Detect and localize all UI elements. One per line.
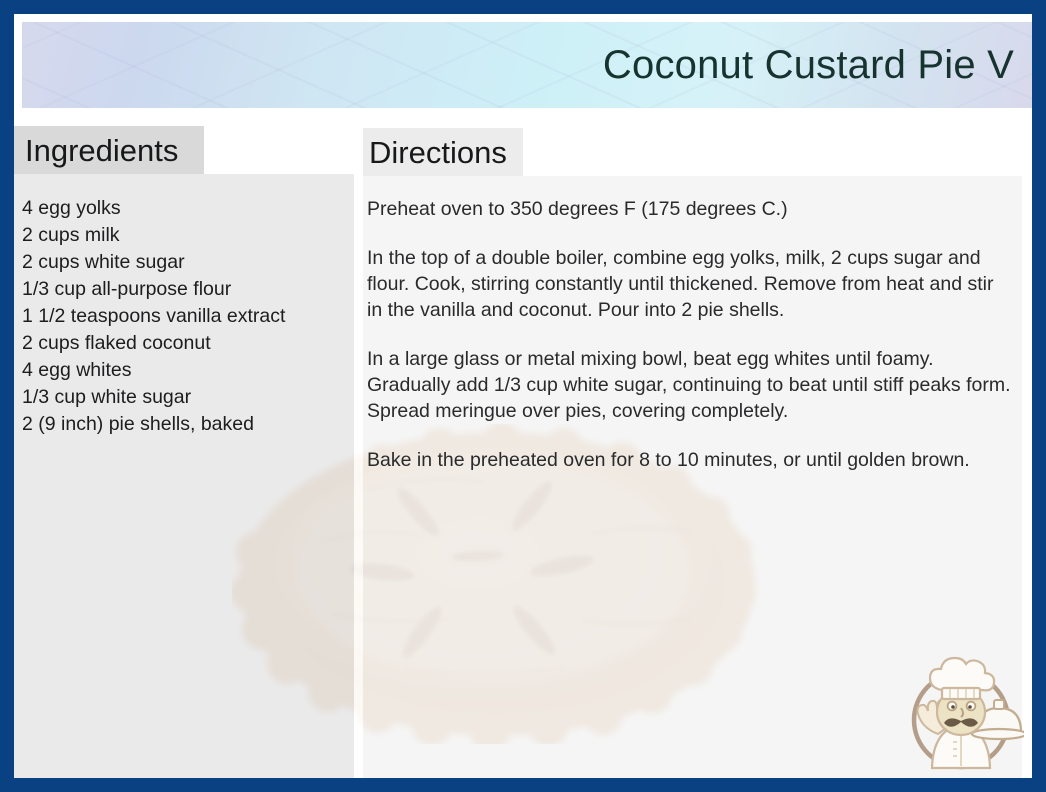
tab-ingredients[interactable]: Ingredients bbox=[14, 126, 204, 174]
tab-directions[interactable]: Directions bbox=[363, 128, 523, 176]
directions-paragraph: In a large glass or metal mixing bowl, b… bbox=[367, 346, 1013, 424]
directions-paragraph: Preheat oven to 350 degrees F (175 degre… bbox=[367, 196, 1013, 222]
ingredients-list: 4 egg yolks 2 cups milk 2 cups white sug… bbox=[22, 195, 352, 438]
frame-top-border bbox=[0, 0, 1046, 14]
directions-paragraph: In the top of a double boiler, combine e… bbox=[367, 245, 1013, 323]
recipe-card: Coconut Custard Pie V Ingredients Direct… bbox=[0, 0, 1046, 792]
list-item: 2 cups milk bbox=[22, 222, 352, 249]
list-item: 2 (9 inch) pie shells, baked bbox=[22, 411, 352, 438]
directions-paragraph: Bake in the preheated oven for 8 to 10 m… bbox=[367, 447, 1013, 473]
list-item: 1/3 cup white sugar bbox=[22, 384, 352, 411]
frame-bottom-border bbox=[0, 778, 1046, 792]
list-item: 4 egg whites bbox=[22, 357, 352, 384]
list-item: 1/3 cup all-purpose flour bbox=[22, 276, 352, 303]
list-item: 1 1/2 teaspoons vanilla extract bbox=[22, 303, 352, 330]
title-banner: Coconut Custard Pie V bbox=[22, 22, 1032, 108]
chef-logo-icon bbox=[898, 650, 1024, 776]
panel-divider bbox=[354, 174, 363, 778]
tab-directions-label: Directions bbox=[369, 137, 507, 168]
tab-ingredients-label: Ingredients bbox=[25, 135, 178, 166]
list-item: 4 egg yolks bbox=[22, 195, 352, 222]
frame-left-border bbox=[0, 0, 14, 792]
page-title: Coconut Custard Pie V bbox=[603, 45, 1014, 85]
directions-body: Preheat oven to 350 degrees F (175 degre… bbox=[367, 196, 1013, 473]
list-item: 2 cups white sugar bbox=[22, 249, 352, 276]
list-item: 2 cups flaked coconut bbox=[22, 330, 352, 357]
frame-right-border bbox=[1032, 0, 1046, 792]
